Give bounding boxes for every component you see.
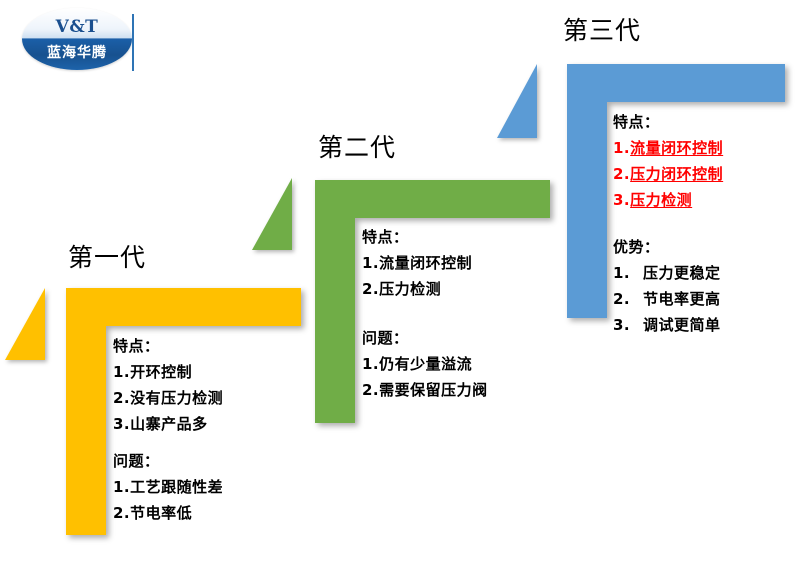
list-text: 压力检测 [630, 189, 692, 210]
group-heading: 问题： [113, 450, 223, 471]
generation-2-title: 第二代 [318, 128, 396, 164]
group-list: 1.工艺跟随性差 2.节电率低 [113, 476, 223, 523]
list-item: 3.山寨产品多 [113, 413, 223, 434]
list-text: 节电率更高 [643, 288, 721, 309]
list-item: 2.节电率更高 [613, 288, 723, 309]
list-text: 调试更简单 [643, 314, 721, 335]
list-text: 仍有少量溢流 [379, 353, 472, 374]
logo-oval-shape: V&T 蓝海华腾 [22, 8, 132, 70]
list-number: 1. [362, 355, 379, 373]
list-number: 2. [613, 165, 630, 183]
list-number: 2. [362, 280, 379, 298]
list-text: 压力更稳定 [643, 262, 721, 283]
list-text: 流量闭环控制 [379, 252, 472, 273]
list-item: 2.节电率低 [113, 502, 223, 523]
list-text: 需要保留压力阀 [379, 379, 488, 400]
generation-2-group-features: 特点： 1.流量闭环控制 2.压力检测 [362, 226, 488, 299]
header-divider-line [132, 14, 134, 71]
list-number: 2. [113, 504, 130, 522]
group-heading: 特点： [613, 111, 723, 132]
group-heading: 特点： [362, 226, 488, 247]
list-item: 1.仍有少量溢流 [362, 353, 488, 374]
generation-2-text-panel: 特点： 1.流量闭环控制 2.压力检测 问题： 1.仍有少量溢流 2.需要保留压… [362, 226, 488, 405]
list-number: 1. [362, 254, 379, 272]
list-item-highlighted: 2.压力闭环控制 [613, 163, 723, 184]
list-item: 1.流量闭环控制 [362, 252, 488, 273]
generation-2-arrow-tail-icon [252, 178, 292, 250]
list-item-highlighted: 1.流量闭环控制 [613, 137, 723, 158]
list-number: 2. [113, 389, 130, 407]
generation-3-group-advantages: 优势： 1.压力更稳定 2.节电率更高 3.调试更简单 [613, 236, 723, 335]
list-item: 2.需要保留压力阀 [362, 379, 488, 400]
logo-brand-latin: V&T [22, 14, 132, 40]
group-list: 1.流量闭环控制 2.压力闭环控制 3.压力检测 [613, 137, 723, 210]
generation-2-group-problems: 问题： 1.仍有少量溢流 2.需要保留压力阀 [362, 327, 488, 400]
generation-1-group-problems: 问题： 1.工艺跟随性差 2.节电率低 [113, 450, 223, 523]
list-number: 2. [613, 290, 643, 308]
list-text: 流量闭环控制 [630, 137, 723, 158]
generation-1-text-panel: 特点： 1.开环控制 2.没有压力检测 3.山寨产品多 问题： 1.工艺跟随性差… [113, 335, 223, 528]
generation-3-group-features: 特点： 1.流量闭环控制 2.压力闭环控制 3.压力检测 [613, 111, 723, 210]
list-number: 1. [613, 264, 643, 282]
group-list: 1.仍有少量溢流 2.需要保留压力阀 [362, 353, 488, 400]
group-heading: 特点： [113, 335, 223, 356]
list-number: 3. [113, 415, 130, 433]
list-text: 工艺跟随性差 [130, 476, 223, 497]
list-number: 1. [613, 139, 630, 157]
slide-canvas: V&T 蓝海华腾 第一代 特点： 1.开环控制 2.没有压力检测 3.山寨产品多… [0, 0, 800, 564]
list-text: 开环控制 [130, 361, 192, 382]
generation-1-arrow-tail-icon [5, 288, 45, 360]
list-number: 2. [362, 381, 379, 399]
list-item-highlighted: 3.压力检测 [613, 189, 723, 210]
list-number: 1. [113, 363, 130, 381]
list-item: 1.工艺跟随性差 [113, 476, 223, 497]
group-list: 1.开环控制 2.没有压力检测 3.山寨产品多 [113, 361, 223, 434]
list-number: 3. [613, 191, 630, 209]
generation-3-text-panel: 特点： 1.流量闭环控制 2.压力闭环控制 3.压力检测 优势： 1.压力更稳定… [613, 111, 723, 340]
list-text: 压力闭环控制 [630, 163, 723, 184]
list-item: 1.开环控制 [113, 361, 223, 382]
list-item: 3.调试更简单 [613, 314, 723, 335]
list-text: 没有压力检测 [130, 387, 223, 408]
list-item: 2.压力检测 [362, 278, 488, 299]
group-list: 1.压力更稳定 2.节电率更高 3.调试更简单 [613, 262, 723, 335]
company-logo: V&T 蓝海华腾 [22, 8, 132, 74]
group-heading: 优势： [613, 236, 723, 257]
list-item: 1.压力更稳定 [613, 262, 723, 283]
generation-3-title: 第三代 [563, 11, 641, 47]
list-text: 节电率低 [130, 502, 192, 523]
list-item: 2.没有压力检测 [113, 387, 223, 408]
generation-1-group-features: 特点： 1.开环控制 2.没有压力检测 3.山寨产品多 [113, 335, 223, 434]
list-text: 压力检测 [379, 278, 441, 299]
group-list: 1.流量闭环控制 2.压力检测 [362, 252, 488, 299]
group-heading: 问题： [362, 327, 488, 348]
generation-1-title: 第一代 [68, 238, 146, 274]
generation-3-arrow-tail-icon [497, 64, 537, 138]
list-number: 1. [113, 478, 130, 496]
logo-brand-chinese: 蓝海华腾 [22, 41, 132, 65]
list-text: 山寨产品多 [130, 413, 208, 434]
list-number: 3. [613, 316, 643, 334]
